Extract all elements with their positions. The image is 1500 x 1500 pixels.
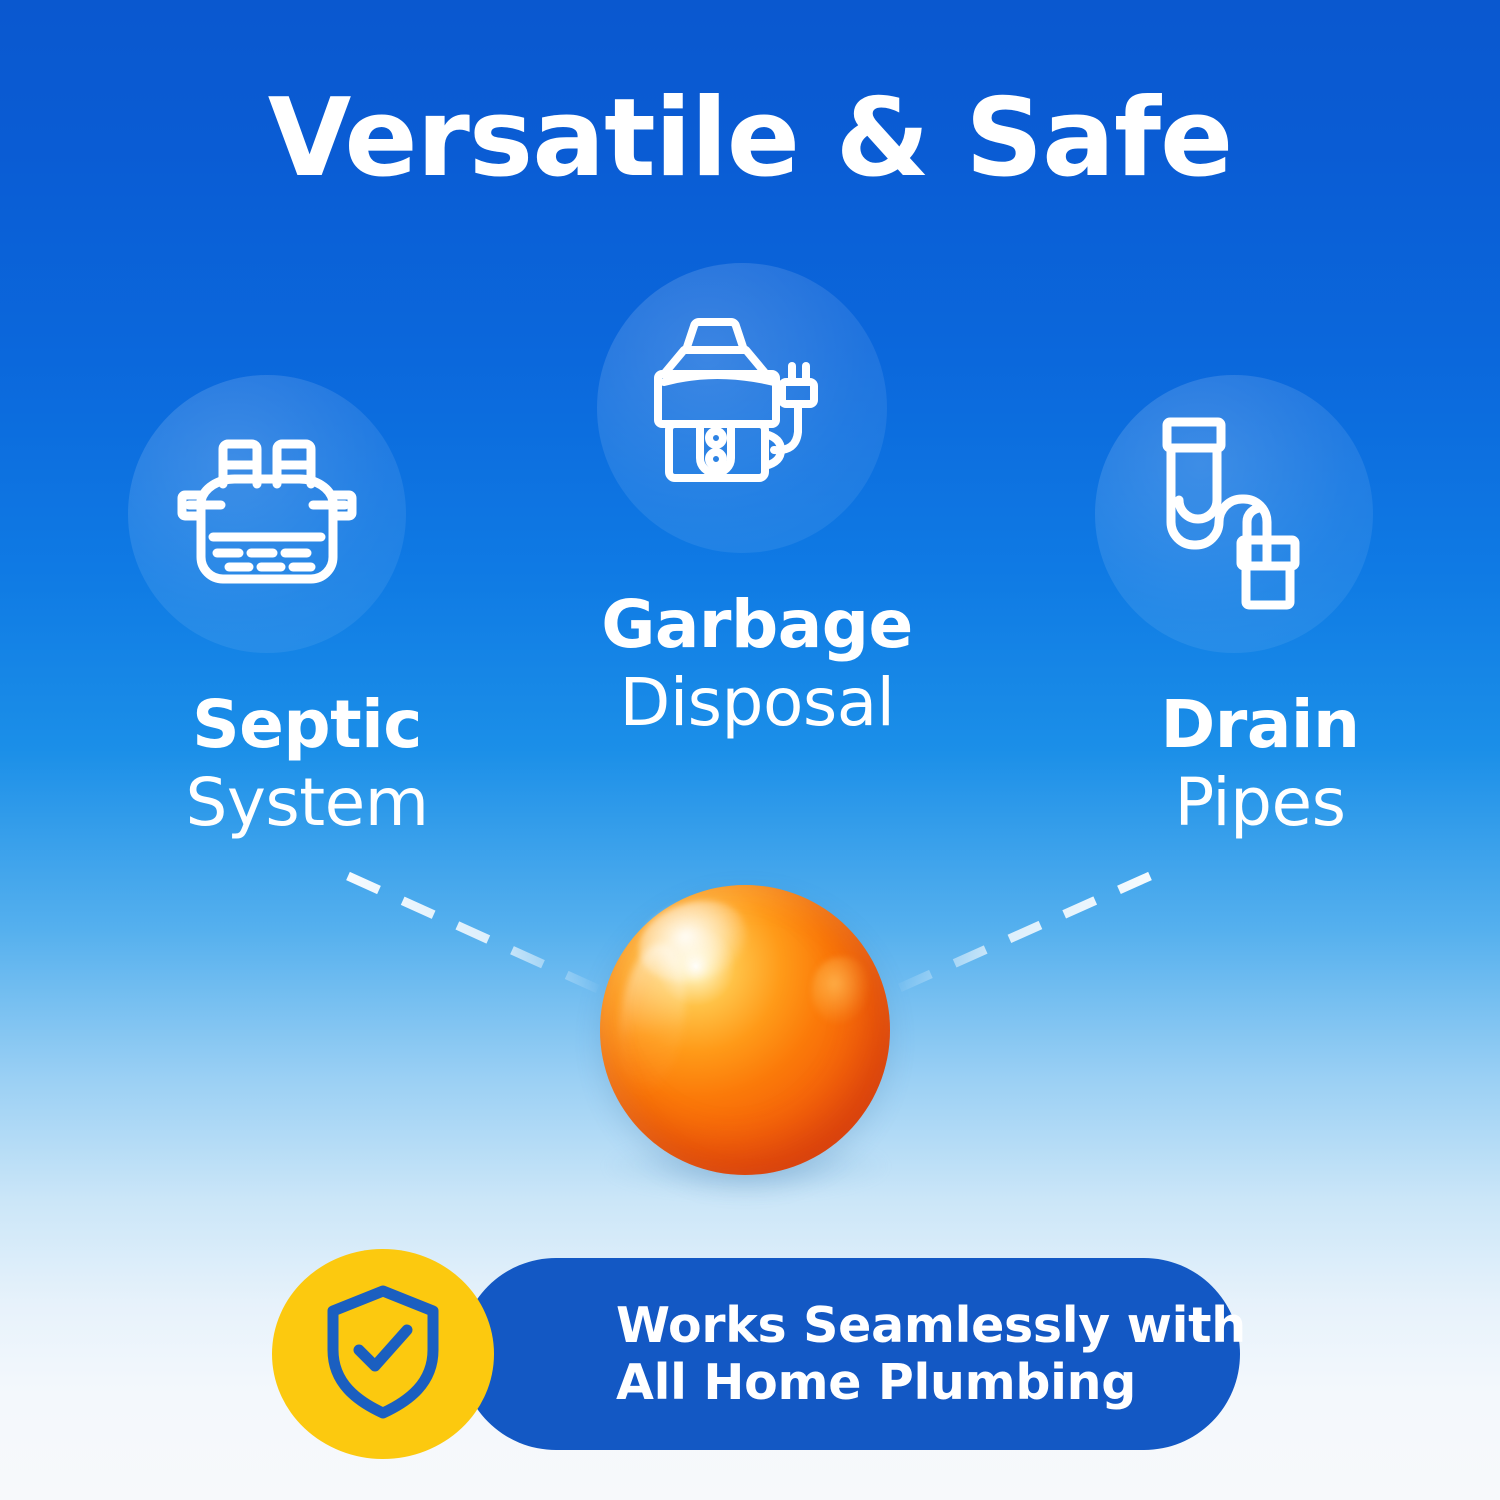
connector-septic (348, 876, 600, 990)
feature-circle-septic (128, 375, 406, 653)
pod-sphere (600, 885, 890, 1175)
feature-label-disposal: Garbage Disposal (497, 592, 1017, 736)
feature-label-drain-line1: Drain (1000, 692, 1500, 758)
feature-label-disposal-line2: Disposal (497, 670, 1017, 736)
feature-circle-drain (1095, 375, 1373, 653)
promo-infographic: Versatile & Safe (0, 0, 1500, 1500)
bottom-banner: Works Seamlessly with All Home Plumbing (272, 1249, 1240, 1459)
feature-label-drain: Drain Pipes (1000, 692, 1500, 836)
banner-text: Works Seamlessly with All Home Plumbing (616, 1297, 1246, 1412)
page-title: Versatile & Safe (0, 82, 1500, 195)
feature-label-disposal-line1: Garbage (497, 592, 1017, 658)
pod-rim-light (600, 885, 890, 1175)
feature-label-septic: Septic System (47, 692, 567, 836)
banner-badge (272, 1249, 494, 1459)
banner-pill: Works Seamlessly with All Home Plumbing (460, 1258, 1240, 1450)
feature-circle-disposal (597, 263, 887, 553)
drain-pipe-icon (1149, 414, 1319, 614)
banner-text-line1: Works Seamlessly with (616, 1297, 1246, 1354)
product-pod (600, 885, 890, 1175)
feature-label-septic-line2: System (47, 770, 567, 836)
septic-tank-icon (177, 429, 357, 599)
feature-label-septic-line1: Septic (47, 692, 567, 758)
feature-label-drain-line2: Pipes (1000, 770, 1500, 836)
garbage-disposal-icon (642, 308, 842, 508)
connector-drain (895, 876, 1150, 990)
shield-check-icon (321, 1284, 445, 1424)
banner-text-line2: All Home Plumbing (616, 1354, 1246, 1411)
